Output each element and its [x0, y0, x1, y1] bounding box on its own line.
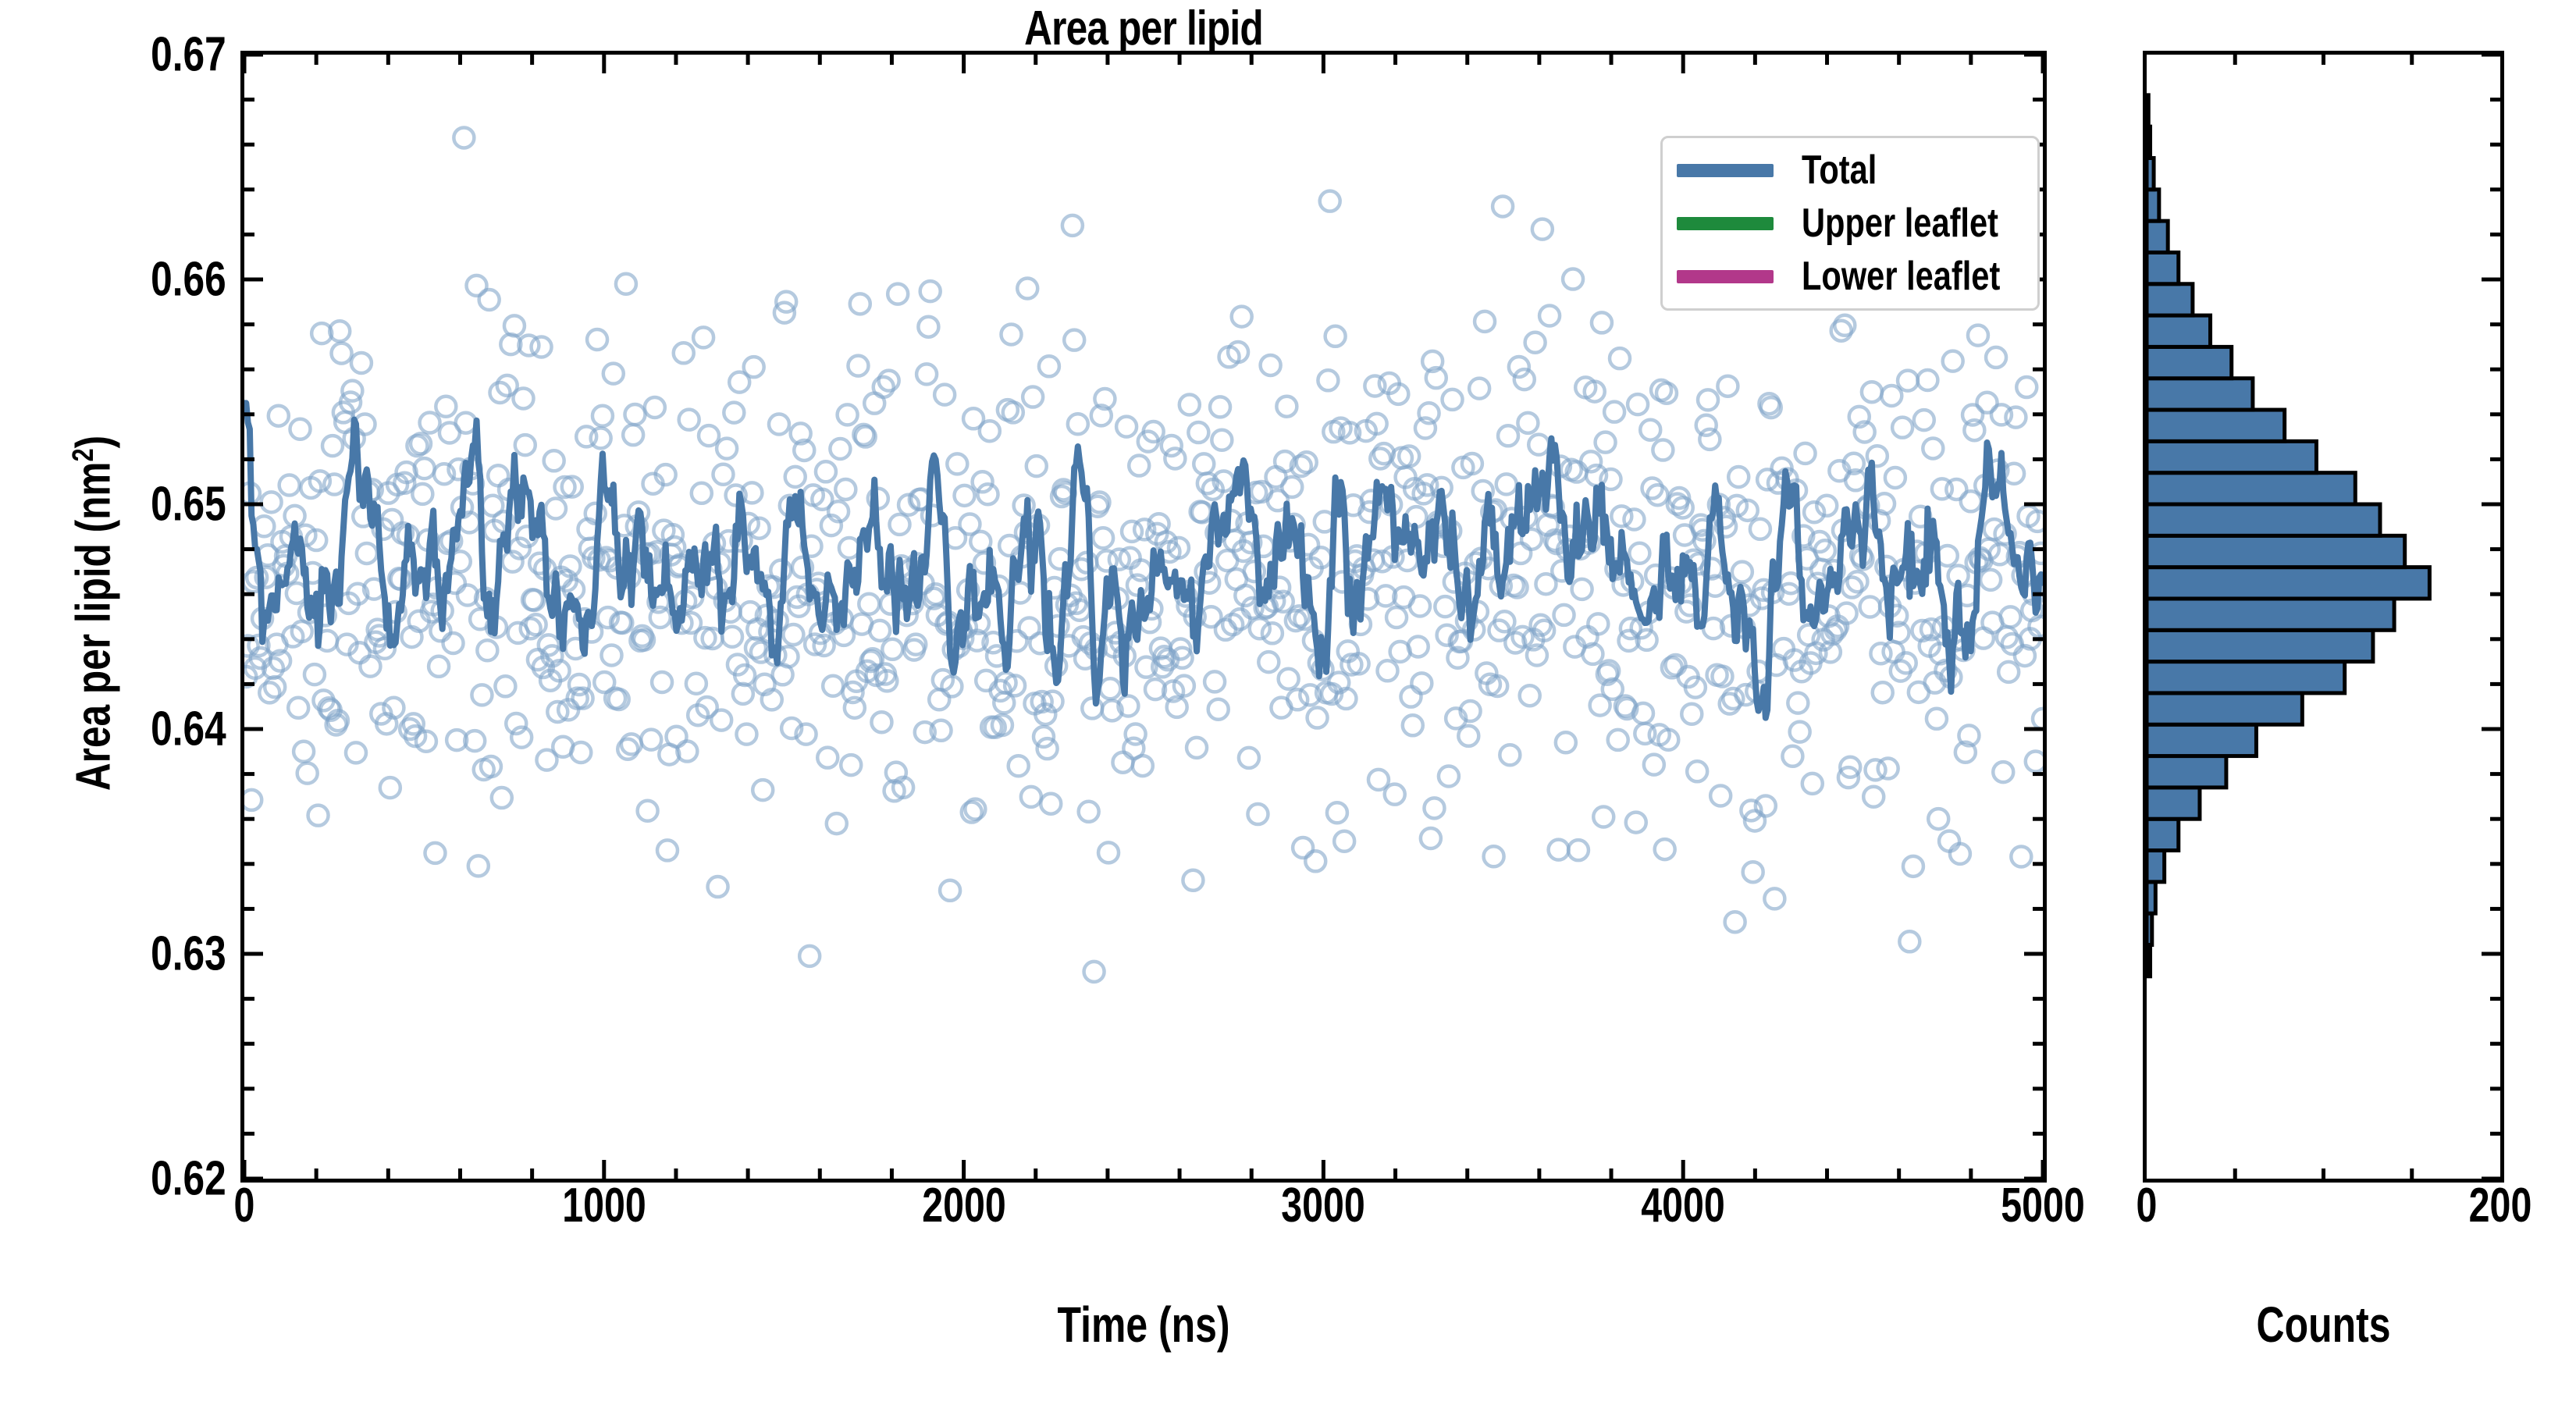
main-x-tick-label: 3000	[1282, 1178, 1366, 1233]
legend-item-total[interactable]: Total	[1677, 144, 2028, 196]
page-title: Area per lipid	[421, 5, 1866, 53]
main-x-tick-label: 0	[234, 1178, 255, 1233]
main-y-tick-label: 0.63	[151, 927, 226, 982]
main-y-tick-label: 0.62	[151, 1151, 226, 1207]
legend-item-lower-leaflet[interactable]: Lower leaflet	[1677, 251, 2028, 302]
histogram-bars-layer	[2147, 55, 2500, 1179]
legend-label-total: Total	[1802, 144, 1877, 196]
hist-x-tick-label: 0	[2137, 1178, 2158, 1233]
legend[interactable]: Total Upper leaflet Lower leaflet	[1660, 136, 2040, 311]
legend-label-upper-leaflet: Upper leaflet	[1802, 197, 1998, 249]
hist-plot-clip	[2147, 55, 2500, 1179]
legend-item-upper-leaflet[interactable]: Upper leaflet	[1677, 197, 2028, 249]
main-x-tick-label: 5000	[2001, 1178, 2085, 1233]
y-axis-label-tail: )	[67, 436, 121, 449]
legend-swatch-lower-leaflet	[1677, 270, 1774, 283]
legend-swatch-total	[1677, 164, 1774, 177]
main-x-tick-label: 1000	[562, 1178, 646, 1233]
main-x-tick-label: 2000	[922, 1178, 1006, 1233]
hist-x-tick-label: 200	[2469, 1178, 2532, 1233]
hist-x-axis-label: Counts	[2183, 1296, 2464, 1353]
legend-swatch-upper-leaflet	[1677, 217, 1774, 230]
main-x-axis-label: Time (ns)	[439, 1296, 1848, 1353]
main-y-tick-label: 0.64	[151, 702, 226, 757]
y-axis-label-superscript: 2	[66, 448, 100, 461]
main-y-tick-label: 0.65	[151, 477, 226, 532]
main-y-tick-label: 0.67	[151, 27, 226, 83]
main-y-tick-label: 0.66	[151, 252, 226, 308]
main-x-tick-label: 4000	[1641, 1178, 1725, 1233]
main-y-axis-label: Area per lipid (nm2)	[66, 301, 122, 926]
legend-label-lower-leaflet: Lower leaflet	[1802, 251, 2000, 302]
figure-canvas: Area per lipid 0100020003000400050000.62…	[0, 0, 2576, 1405]
marginal-histogram-axes	[2143, 51, 2504, 1183]
y-axis-label-text: Area per lipid (nm	[67, 461, 121, 791]
